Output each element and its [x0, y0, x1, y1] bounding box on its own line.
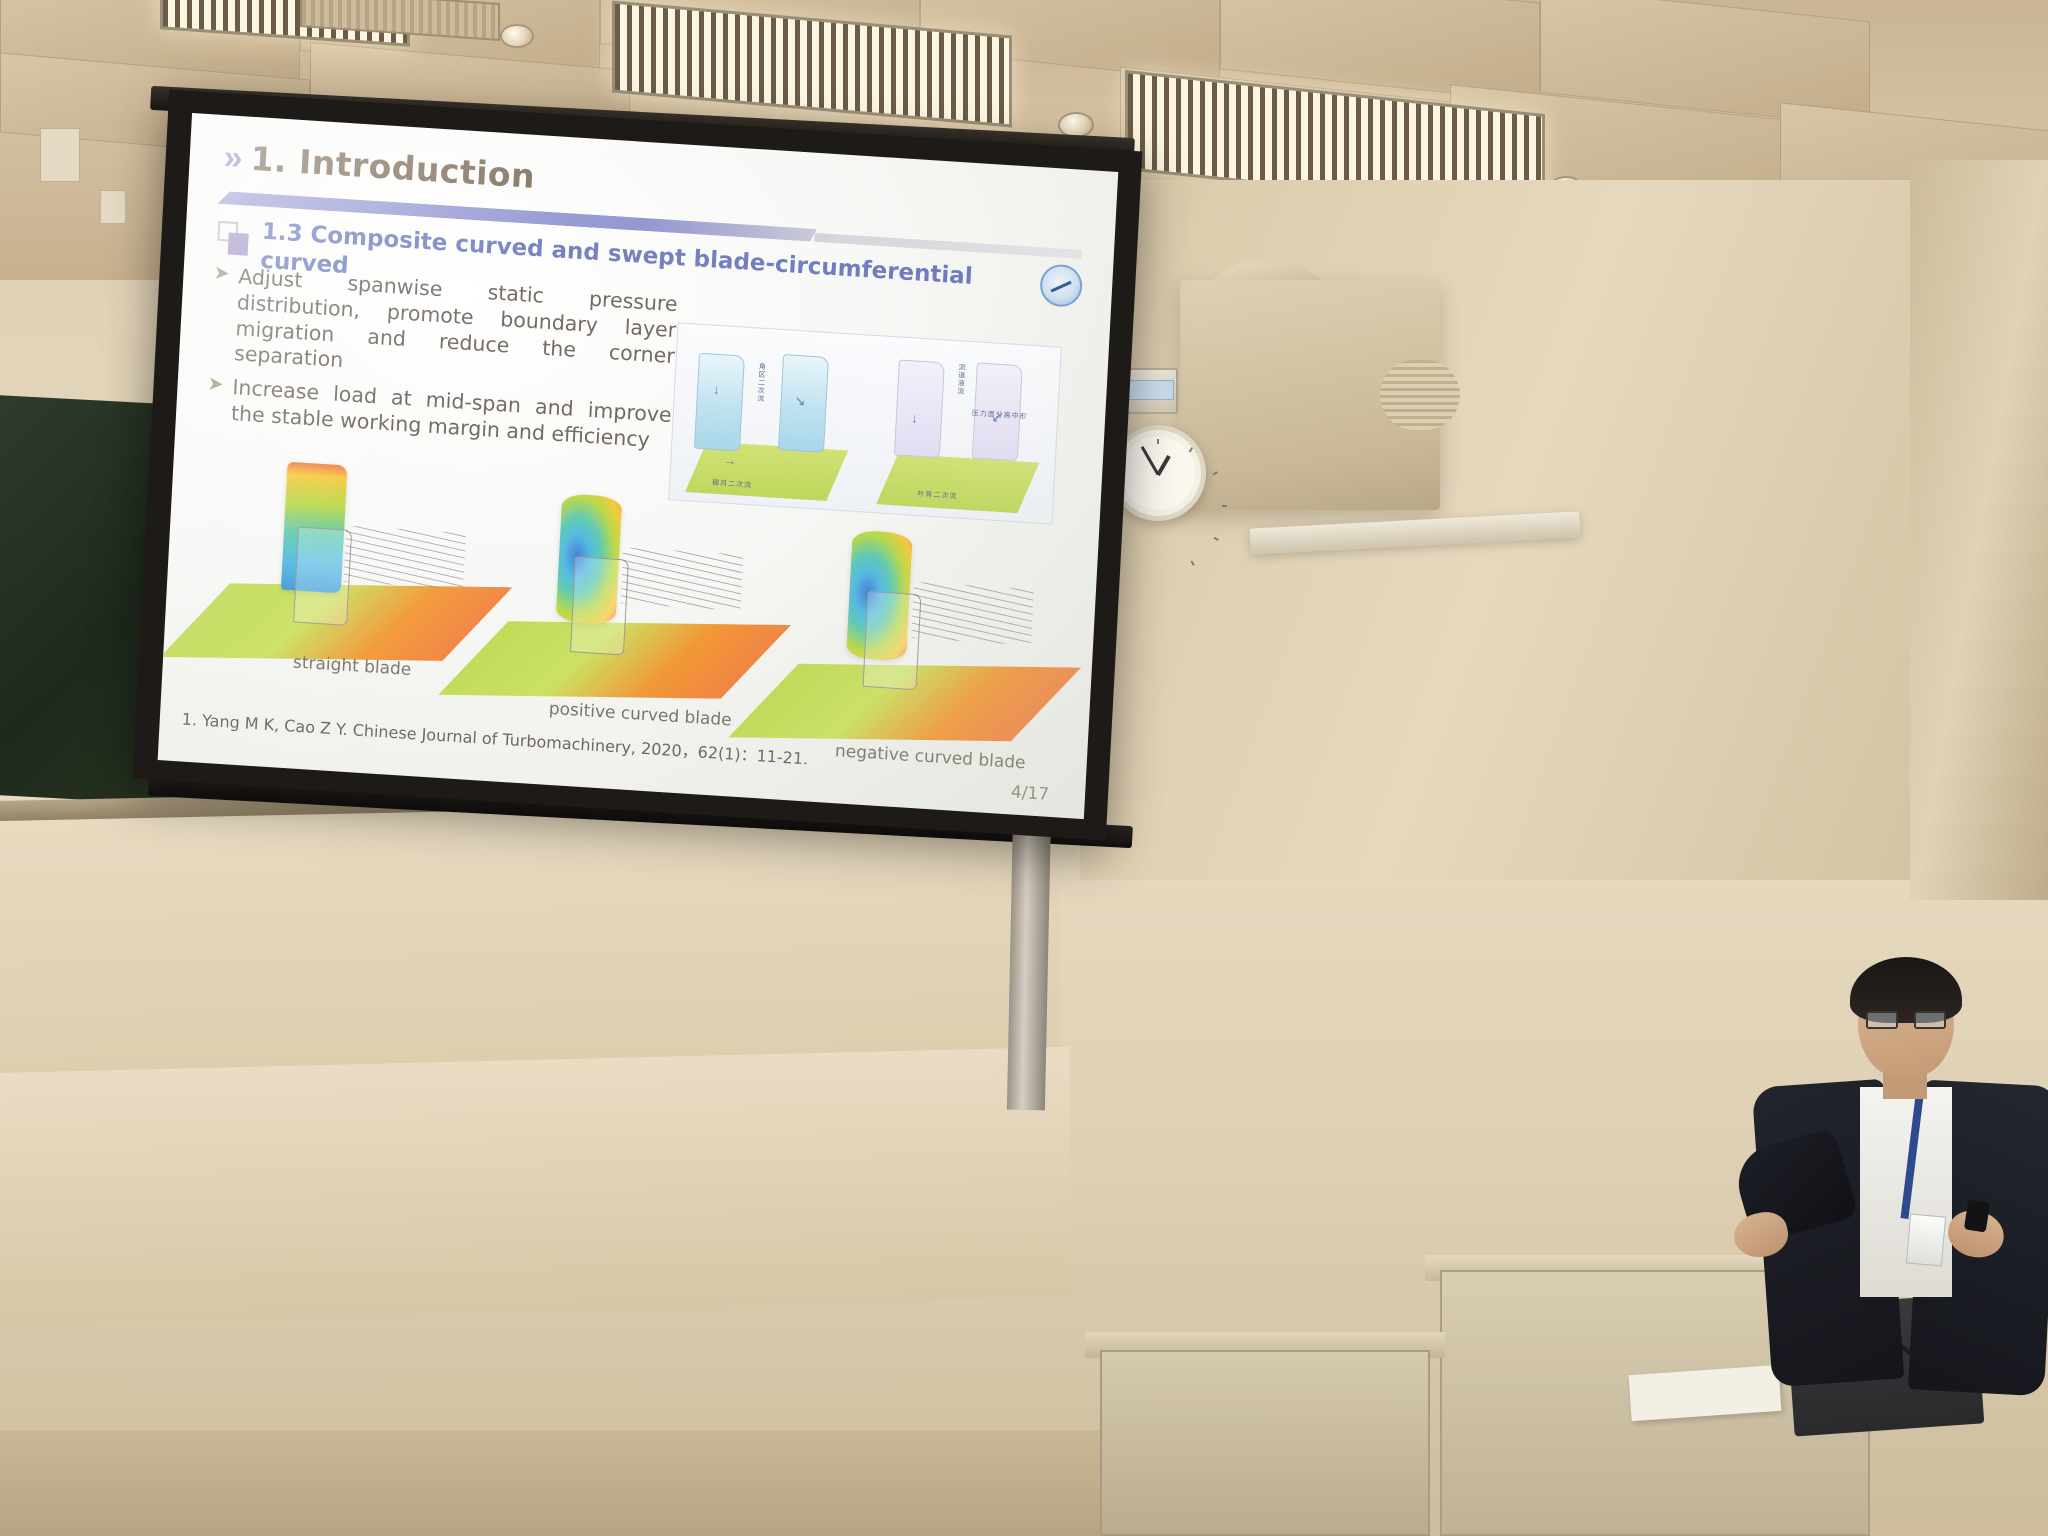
floor: [0, 1430, 1120, 1536]
cfd-streamlines: [621, 547, 744, 611]
wall-outlet[interactable]: [40, 128, 80, 182]
schematic-label-passage-flow: 流道液流: [955, 363, 967, 396]
slide-header: » 1. Introduction: [223, 137, 536, 196]
lecture-hall-scene: » 1. Introduction 1.3 Composite curved a…: [0, 0, 2048, 1536]
square-outline-icon: [217, 221, 238, 242]
cfd-streamlines: [343, 526, 466, 590]
clock-tick: [1174, 447, 1193, 477]
schematic-right-panel: ↓ ↙ 流道液流 压力面分高中形 叶背二次流: [860, 336, 1060, 524]
square-filled-icon: [228, 233, 249, 256]
projector-screen: » 1. Introduction 1.3 Composite curved a…: [133, 89, 1143, 840]
presenter: [1740, 965, 2048, 1505]
wall-outlet[interactable]: [100, 190, 126, 224]
arrow-bullet-icon: ➤: [209, 263, 230, 367]
glasses-lens-right: [1914, 1011, 1946, 1029]
ceiling-downlight: [500, 24, 534, 48]
schematic-left-panel: ↓ ↘ → 角区二次流 稺月二次流: [669, 323, 869, 511]
blade-profile: [694, 353, 745, 452]
cfd-blade-outline: [570, 556, 629, 655]
slide-title: 1. Introduction: [250, 139, 536, 196]
cfd-figure-positive-curved: positive curved blade: [462, 480, 775, 749]
whiteboard-lower-2: [0, 1047, 1070, 1323]
screen-support-arm: [1007, 810, 1051, 1111]
blade-profile-curved: [893, 359, 944, 458]
glasses-icon: [1866, 1011, 1948, 1029]
endwall-surface: [876, 452, 1039, 514]
wall-pillar: [1910, 160, 2048, 900]
cfd-streamlines: [911, 582, 1034, 646]
glasses-lens-left: [1866, 1011, 1898, 1029]
flow-arrow-icon: ↘: [794, 393, 806, 410]
ac-grille-icon: [1380, 360, 1460, 430]
figure-caption: negative curved blade: [835, 741, 1026, 773]
arrow-bullet-icon: ➤: [205, 374, 224, 427]
presentation-clicker[interactable]: [1964, 1199, 1990, 1232]
slide-bullet-list: ➤ Adjust spanwise static pressure distri…: [205, 263, 693, 464]
flow-arrow-icon: →: [723, 452, 737, 468]
flow-arrow-icon: ↓: [713, 382, 720, 397]
slide-page-number: 4/17: [1010, 782, 1049, 804]
cfd-figure-straight: straight blade: [190, 444, 492, 702]
schematic-label-corner-secondary-flow: 角区二次流: [755, 362, 767, 403]
presentation-slide: » 1. Introduction 1.3 Composite curved a…: [158, 113, 1119, 819]
clock-face: [1121, 436, 1195, 510]
blade-schematic-figure: ↓ ↘ → 角区二次流 稺月二次流 ↓ ↙ 流道液流 压力面分高中形 叶背二次流: [668, 322, 1062, 524]
chevron-double-right-icon: »: [223, 140, 238, 175]
clock-tick: [1193, 505, 1227, 507]
name-badge: [1906, 1214, 1946, 1267]
flow-arrow-icon: ↓: [911, 410, 918, 425]
side-table: [1100, 1350, 1430, 1536]
figure-caption: positive curved blade: [548, 699, 732, 731]
